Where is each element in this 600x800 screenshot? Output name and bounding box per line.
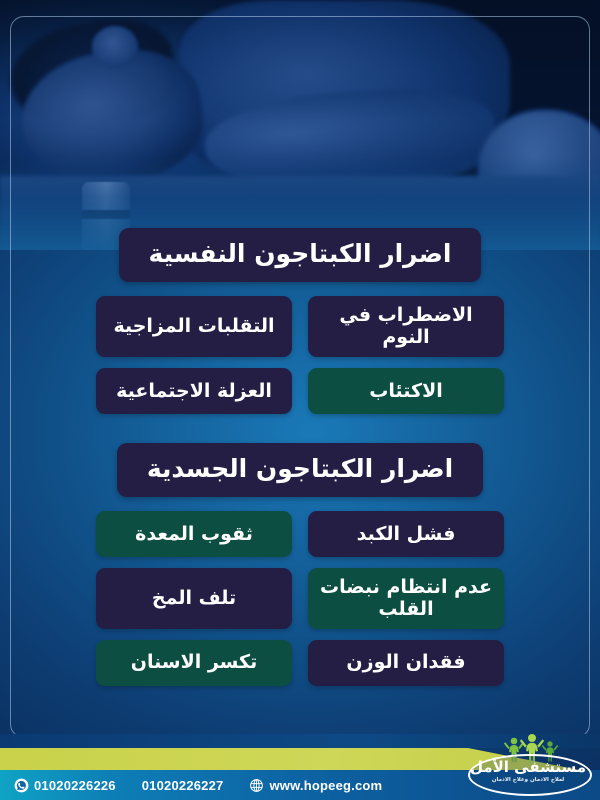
section-physical: اضرار الكبتاجون الجسدية فشل الكبد ثقوب ا… [0, 443, 600, 686]
card-row: الاكتئاب العزلة الاجتماعية [22, 368, 578, 414]
hospital-logo[interactable]: مستشفى الأمل لعلاج الادمان وعلاج الادمان [464, 734, 592, 796]
globe-icon [249, 778, 264, 793]
card-row: الاضطراب في النوم التقلبات المزاجية [22, 296, 578, 357]
contact-spacer [126, 785, 132, 786]
section-spacer [0, 425, 600, 443]
phone-secondary: 01020226227 [142, 778, 224, 793]
harm-card-brain-damage[interactable]: تلف المخ [96, 568, 292, 629]
card-row: عدم انتظام نبضات القلب تلف المخ [22, 568, 578, 629]
harm-card-liver-failure[interactable]: فشل الكبد [308, 511, 504, 557]
footer-bar: 01020226226 01020226227 www.hopee [0, 734, 600, 800]
content-area: اضرار الكبتاجون النفسية الاضطراب في النو… [0, 228, 600, 697]
section-title-psychological: اضرار الكبتاجون النفسية [119, 228, 482, 282]
card-row: فشل الكبد ثقوب المعدة [22, 511, 578, 557]
phone-primary: 01020226226 [34, 778, 116, 793]
logo-name: مستشفى الأمل [468, 760, 588, 775]
contact-spacer [233, 785, 239, 786]
infographic-poster: اضرار الكبتاجون النفسية الاضطراب في النو… [0, 0, 600, 800]
whatsapp-icon [14, 778, 29, 793]
website-url: www.hopeeg.com [269, 778, 382, 793]
harm-card-stomach-perforation[interactable]: ثقوب المعدة [96, 511, 292, 557]
section-title-physical: اضرار الكبتاجون الجسدية [117, 443, 483, 497]
phone-secondary-contact[interactable]: 01020226227 [142, 778, 224, 793]
footer-contact-group: 01020226226 01020226227 www.hopee [0, 773, 444, 797]
harm-card-depression[interactable]: الاكتئاب [308, 368, 504, 414]
harm-card-social-isolation[interactable]: العزلة الاجتماعية [96, 368, 292, 414]
harm-card-sleep-disorder[interactable]: الاضطراب في النوم [308, 296, 504, 357]
harm-card-irregular-heartbeat[interactable]: عدم انتظام نبضات القلب [308, 568, 504, 629]
website-contact[interactable]: www.hopeeg.com [249, 778, 382, 793]
harm-card-teeth-breakage[interactable]: تكسر الاسنان [96, 640, 292, 686]
whatsapp-contact[interactable]: 01020226226 [14, 778, 116, 793]
harm-card-mood-swings[interactable]: التقلبات المزاجية [96, 296, 292, 357]
harm-card-weight-loss[interactable]: فقدان الوزن [308, 640, 504, 686]
hero-photo [0, 0, 600, 250]
logo-tagline: لعلاج الادمان وعلاج الادمان [468, 778, 588, 784]
card-rows-psychological: الاضطراب في النوم التقلبات المزاجية الاك… [0, 296, 600, 414]
card-rows-physical: فشل الكبد ثقوب المعدة عدم انتظام نبضات ا… [0, 511, 600, 686]
section-psychological: اضرار الكبتاجون النفسية الاضطراب في النو… [0, 228, 600, 414]
card-row: فقدان الوزن تكسر الاسنان [22, 640, 578, 686]
